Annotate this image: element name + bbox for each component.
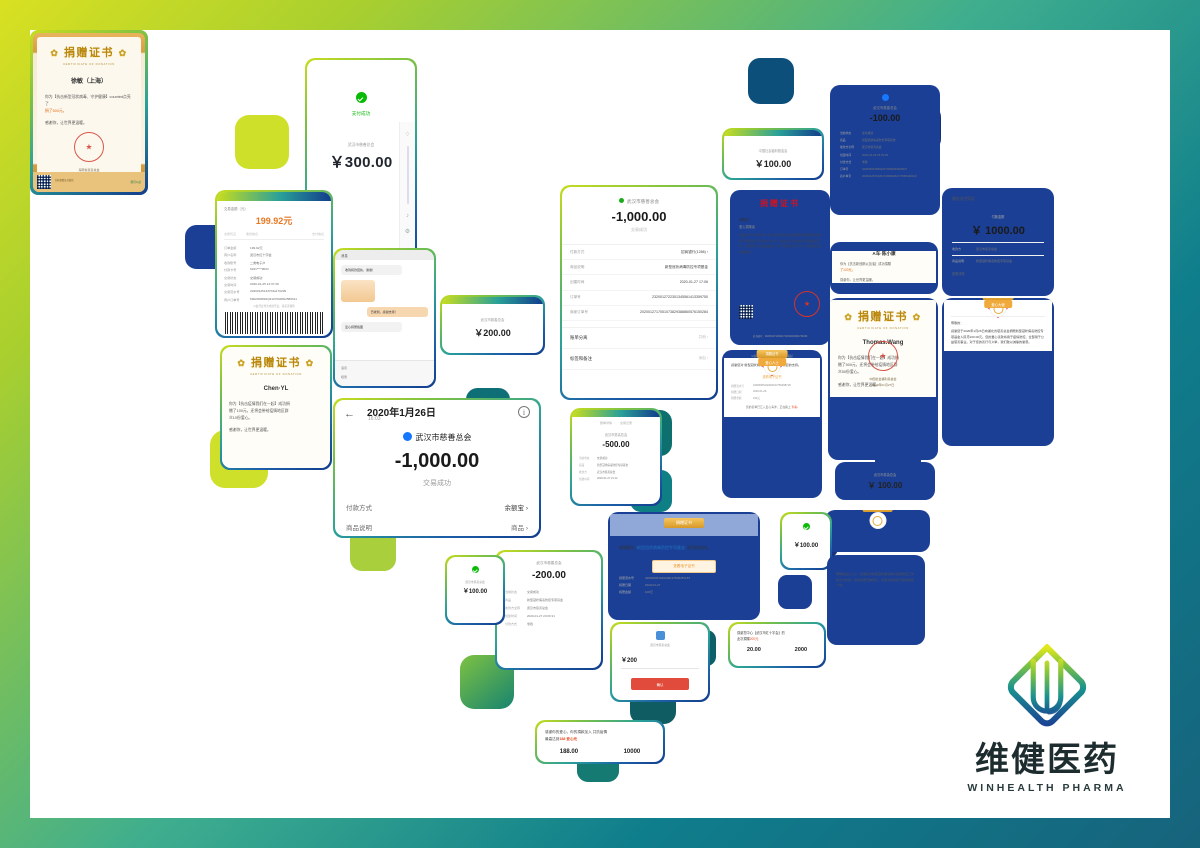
- transaction-detail-500-card[interactable]: 账单详情 交易记录 武汉市慈善总会 -500.00 当前状态交易成功 商品新型冠…: [570, 408, 662, 506]
- payee-name: 武汉市慈善总会: [572, 432, 660, 437]
- qr-code-icon[interactable]: [739, 305, 753, 319]
- table-row: 订单号42000601000620073600000360027: [840, 167, 930, 171]
- avatar-icon: [656, 631, 665, 640]
- table-row: 交易状态交易成功: [224, 275, 324, 280]
- barcode-note: 以此凭证作为交易凭证，请妥善保管: [217, 304, 331, 308]
- donor-name: Chen·YL: [229, 386, 323, 392]
- status-label: 交易成功: [562, 227, 716, 233]
- payee-name: 武汉市慈善总会: [562, 198, 716, 205]
- transaction-detail-200-card[interactable]: 武汉市慈善总会 -200.00 当前状态交易成功 商品新型冠状病毒防控专项基金 …: [495, 550, 603, 670]
- certificate-title: 捐赠证书: [732, 198, 828, 209]
- table-row: 订单金额199.92元: [224, 245, 324, 250]
- badge-label: 爱心人士: [758, 358, 786, 366]
- tab-item[interactable]: 收款信息: [246, 232, 258, 236]
- official-seal-icon: ★: [868, 341, 898, 371]
- amount-value: ￥ 100.00: [837, 480, 933, 491]
- note-body: 尊敬的爱心人士：感谢您对新型冠状病毒肺炎疫情防控工作的大力支持，您的捐赠已被登记…: [836, 572, 916, 589]
- wechat-bill-detail-card[interactable]: 武汉市慈善总会 -1,000.00 交易成功 付款方式招商银行(1286) › …: [560, 185, 718, 400]
- amount-value: ￥100.00: [447, 586, 503, 595]
- decor-blob: [778, 575, 812, 609]
- laurel-icon: ✿: [119, 48, 128, 58]
- donor-name: 徐敏（上海）: [45, 76, 133, 85]
- bell-icon[interactable]: ♢: [400, 131, 415, 138]
- thanks-text: 感谢您中心【武汉市红十字会】的 此次捐赠200元: [737, 630, 817, 642]
- badge-label: 爱心大使: [984, 300, 1012, 308]
- love-person-certificate-card[interactable]: 公益项目由基金会、慈善组织等发起 爱心人士 捐赠证书 感谢您对“新型冠状病毒防控…: [722, 350, 822, 498]
- tab-item[interactable]: 账单详情: [600, 421, 612, 425]
- card-accent-bar: [572, 410, 660, 417]
- donor-name: 爱心捐赠者: [739, 224, 821, 229]
- table-row: 交易时间2020-01-25 13:37:39: [224, 282, 324, 287]
- thanks-wuhan-card[interactable]: 感谢您中心【武汉市红十字会】的 此次捐赠200元 20.00 2000: [728, 622, 826, 668]
- table-row: 捐赠流水号42000605102020012750938718: [731, 384, 813, 388]
- certificate-title: ✿ 捐赠证书 ✿: [838, 308, 928, 324]
- amount-value: 199.92元: [217, 214, 331, 227]
- alipay-transaction-detail-card[interactable]: ← 2020年1月26日 16:03 i 武汉市慈善总会 -1,000.00 交…: [333, 398, 541, 538]
- certificate-number: 证书编号：20200127120021710314020401720449: [730, 334, 830, 338]
- thanks-188-card[interactable]: 感谢你的爱心，你的捐款加入 共抗疫情 最高达到188 爱心元 188.00 10…: [535, 720, 665, 764]
- donation-badge-card[interactable]: 捐赠证书: [825, 510, 930, 552]
- payment-status-label: 支付成功: [307, 111, 415, 117]
- table-row: 收款方全称武汉市慈善总会: [840, 145, 930, 149]
- chat-screenshot-card[interactable]: 消息 收到捐款回执，谢谢！ 已收到，感谢支持！ 爱心捐赠截图 语音 相册: [333, 248, 436, 388]
- medal-icon: [869, 512, 886, 529]
- action-row[interactable]: 标签和备注添加 ›: [562, 349, 716, 370]
- chat-bubble: 已收到，感谢支持！: [367, 307, 428, 317]
- table-row: 商品新型冠状病毒防控专项基金: [840, 138, 930, 142]
- amount-values: 188.00 10000: [537, 749, 663, 755]
- table-row: 收款方武汉市慈善总会: [579, 470, 653, 474]
- table-row: 捐赠金额100元: [619, 590, 749, 594]
- bill-actions[interactable]: 账单分离共他 › 标签和备注添加 ›: [562, 327, 716, 370]
- donor-name: A车·陈小康: [832, 251, 936, 257]
- official-seal-icon: ★: [794, 291, 820, 317]
- card-accent-bar: [724, 130, 822, 136]
- card-accent-bar: [217, 192, 331, 201]
- decor-blob: [235, 115, 289, 169]
- official-seal-icon: ★: [74, 132, 104, 162]
- decor-blob: [748, 58, 794, 104]
- amount-value: -200.00: [497, 570, 601, 581]
- music-icon[interactable]: ♪: [400, 213, 415, 219]
- chat-image-bubble[interactable]: [341, 280, 375, 302]
- amount-value: -500.00: [572, 440, 660, 449]
- payee-name: 武汉市慈善总会: [442, 317, 543, 322]
- table-row: 当前状态交易成功: [840, 131, 930, 135]
- table-row: 商户名称武汉市红十字会: [224, 252, 324, 257]
- chat-footer[interactable]: 语音 相册: [335, 360, 434, 386]
- amount-value: -1,000.00: [562, 209, 716, 224]
- table-row: 付款方式零钱: [505, 622, 593, 626]
- certificate-body: 感谢您于2020年1月27日向武汉市慈善总会捐赠新型冠状病毒防控专项基金人民币1…: [739, 233, 821, 255]
- certificate-subtitle: CERTIFICATE OF DONATION: [838, 326, 928, 330]
- salutation: 尊敬的：: [951, 321, 1045, 327]
- table-row: 订单号2320012722301345561413359750: [562, 291, 716, 306]
- alipay-icon: [403, 432, 412, 441]
- view-certificate-button[interactable]: 查看电子证书: [652, 560, 716, 573]
- table-row: 创建时间2020-01-27 21:12: [579, 477, 653, 481]
- medal-label: 捐赠证书: [862, 510, 893, 512]
- ribbon-banner: 捐赠证书: [610, 514, 758, 536]
- table-row: 商户订单号6902000894Q6107000002586611: [224, 297, 324, 302]
- laurel-icon: ✿: [50, 48, 59, 58]
- blue-thanks-note-card[interactable]: 尊敬的爱心人士：感谢您对新型冠状病毒肺炎疫情防控工作的大力支持，您的捐赠已被登记…: [827, 555, 925, 645]
- issue-date: 2020年01月27日: [830, 383, 936, 387]
- brand-name-en: WINHEALTH PHARMA: [962, 782, 1132, 794]
- long-body-text: 感谢您于2020年1月26日向湖北省慈善总会捐赠新型冠状病毒防控专项基金人民币1…: [951, 329, 1045, 346]
- laurel-icon: ✿: [237, 358, 246, 368]
- certificate-subtitle: CERTIFICATE OF DONATION: [45, 62, 133, 66]
- amount-value: 2000: [795, 647, 807, 653]
- certificate-body: 你为【抗击新冠肺炎加油】成功捐赠 了100元。 感谢你，让世界更温暖。: [840, 262, 928, 283]
- table-row: 交易流水号20200125133703a170209: [224, 289, 324, 294]
- certificate-title: ✿ 捐赠证书 ✿: [229, 354, 323, 370]
- voucher-title: 微信支付凭证: [952, 197, 1052, 202]
- footer-label[interactable]: 语音: [341, 366, 428, 370]
- certificate-body: 你为【抗击疫情我们在一起】成功捐 赠了100元，还将会带给疫情地区群 众10份爱…: [229, 401, 323, 434]
- info-icon[interactable]: i: [518, 406, 530, 418]
- amount-value: 10000: [624, 749, 641, 755]
- winhealth-diamond-logo-icon: [1004, 644, 1090, 730]
- thanks-text: 感谢你的爱心，你的捐款加入 共抗疫情 最高达到188 爱心元: [545, 729, 655, 743]
- receipt-tabs[interactable]: 交易凭证 收款信息 支付信息: [224, 232, 324, 240]
- table-row: 商品说明新型冠状病毒防控专项基金: [952, 255, 1044, 264]
- certificate-body: 你为【抗击新型冠状病毒、守护健康】counted点亮了 捐了500元。 感谢你，…: [45, 94, 133, 127]
- footer-note: 扫码查看证书真伪: [55, 180, 73, 184]
- status-bar: [307, 60, 415, 78]
- table-row: 创建时间2020-01-27 17:06: [562, 275, 716, 290]
- amount-label: 交易金额（元）: [224, 206, 331, 211]
- tab-item[interactable]: 交易凭证: [224, 232, 236, 236]
- table-row[interactable]: 商品说明 商品 ›: [346, 522, 528, 532]
- confirm-button[interactable]: 确认: [631, 678, 689, 690]
- nav-bar[interactable]: ← 2020年1月26日 16:03 i: [335, 400, 539, 426]
- amount-value: ￥ 1000.00: [944, 222, 1052, 238]
- china-welfare-fund-card[interactable]: 中国社会福利基金会 ￥100.00: [722, 128, 824, 180]
- chat-header: 消息: [335, 250, 434, 260]
- amount-value: 20.00: [747, 647, 761, 653]
- chen-yl-certificate-card[interactable]: ✿ 捐赠证书 ✿ CERTIFICATE OF DONATION Chen·YL…: [220, 345, 332, 470]
- table-row: 捐赠日期2020-01-26: [731, 390, 813, 394]
- table-row: 捐赠金额100元: [731, 396, 813, 400]
- poster-background: 支付成功 武汉市慈善总会 ￥300.00 ♢ ♪ ⚙ ✿ 捐赠证书: [0, 0, 1200, 848]
- payee-name: 武汉市慈善总会: [837, 472, 933, 477]
- table-row: 付款卡号6221****9634: [224, 267, 324, 272]
- bill-rows: 付款方式招商银行(1286) › 商品说明新型冠状病毒防控专项基金 创建时间20…: [562, 244, 716, 321]
- transaction-time: 16:03: [368, 416, 381, 422]
- chat-bubble: 爱心捐赠截图: [341, 322, 402, 332]
- red-donation-certificate-card[interactable]: 捐赠证书 尊敬的： 爱心捐赠者 感谢您于2020年1月27日向武汉市慈善总会捐赠…: [730, 190, 830, 345]
- volume-slider[interactable]: [407, 146, 409, 204]
- brand-logo: 维健医药 WINHEALTH PHARMA: [962, 644, 1132, 794]
- ribbon-certificate-card[interactable]: 捐赠证书 感谢您对“新型冠状病毒防控专项基金”项目的支持。 查看电子证书 捐赠流…: [608, 512, 760, 620]
- wechat-payment-voucher-card[interactable]: 微信支付凭证 付款金额 ￥ 1000.00 收款方武汉市慈善总会 商品说明新型冠…: [942, 188, 1054, 296]
- table-row: 收款账号二类电子户: [224, 260, 324, 265]
- card-accent-bar: [442, 297, 543, 304]
- table-row: 商品新型冠状病毒防控专项基金: [505, 598, 593, 602]
- footer-label[interactable]: 相册: [341, 375, 428, 379]
- table-row: 捐赠流水号42000605102020012750938718T: [619, 576, 749, 580]
- payee-name: 武汉市慈善总会: [497, 561, 601, 566]
- detail-rows: 当前状态交易成功 商品新型冠状病毒防控专项基金 收款方全称武汉市慈善总会 创建时…: [832, 131, 938, 178]
- wuhan-charity-100-card[interactable]: 武汉市慈善总会 ￥ 100.00: [835, 462, 935, 500]
- amount-label: 付款金额: [944, 214, 1052, 219]
- amount-value: 188.00: [560, 749, 578, 755]
- wechat-pay-100-card[interactable]: 武汉市慈善总会 ￥100.00: [445, 555, 505, 625]
- status-label: 交易成功: [335, 478, 539, 488]
- certificate-title: ✿ 捐赠证书 ✿: [45, 44, 133, 60]
- payee-name: 武汉市慈善总会: [335, 432, 539, 443]
- footer-text: 您的善举已汇入爱心海洋，正在路上 查看›: [731, 402, 813, 412]
- tab-item[interactable]: 交易记录: [620, 421, 632, 425]
- table-row: 商户单号20200126716201720600462177086420010: [840, 174, 930, 178]
- barcode-icon: [225, 312, 323, 334]
- table-row: 商品说明新型冠状病毒防控专项基金: [562, 260, 716, 275]
- gear-icon[interactable]: ⚙: [400, 228, 415, 235]
- amount-value: ￥200.00: [442, 326, 543, 339]
- ribbon-label: 捐赠证书: [664, 518, 704, 528]
- amount-values: 20.00 2000: [730, 647, 824, 653]
- thomas-wang-certificate-card[interactable]: ✿ 捐赠证书 ✿ CERTIFICATE OF DONATION Thomas.…: [828, 298, 938, 460]
- transfer-input-card[interactable]: 武汉市慈善总会 ￥200 确认: [610, 622, 710, 702]
- payment-status: 支付成功: [307, 78, 415, 117]
- recipient-name: 武汉市慈善总会: [612, 643, 708, 647]
- check-circle-icon: [356, 92, 367, 103]
- payee-name: 武汉市慈善总会: [832, 105, 938, 110]
- table-row: 当前状态交易成功: [579, 456, 653, 460]
- table-row: 创建时间2020-01-27 20:06:31: [505, 614, 593, 618]
- certificate-footer: 扫码查看证书真伪 腾讯公益: [33, 172, 145, 192]
- table-row: 捐赠日期2020-01-27: [619, 583, 749, 587]
- table-row: 创建时间2020-01-26 15:43:39: [840, 153, 930, 157]
- laurel-icon: ✿: [844, 312, 853, 322]
- medal-label: 捐赠证书: [757, 350, 788, 358]
- issuing-org: 中国社会福利基金会: [830, 377, 936, 381]
- certificate-subtitle: CERTIFICATE OF DONATION: [229, 372, 323, 376]
- receipt-rows: 订单金额199.92元 商户名称武汉市红十字会 收款账号二类电子户 付款卡号62…: [217, 245, 331, 302]
- table-row: 商品新型冠状病毒防控专项基金: [579, 463, 653, 467]
- wechat-pay-100-small-card[interactable]: ￥100.00: [780, 512, 832, 570]
- laurel-icon: ✿: [306, 358, 315, 368]
- check-circle-icon: [472, 566, 479, 573]
- table-row[interactable]: 付款方式 余额宝 ›: [346, 502, 528, 512]
- payee-name: 中国社会福利基金会: [724, 148, 822, 153]
- card-accent-bar: [829, 557, 923, 566]
- table-row: 付款方式零钱: [840, 160, 930, 164]
- amount-input[interactable]: ￥200: [621, 655, 699, 669]
- detail-rows: 当前状态交易成功 商品新型冠状病毒防控专项基金 收款方全称武汉市慈善总会 创建时…: [497, 590, 601, 626]
- laurel-icon: ✿: [913, 312, 922, 322]
- footer-brand: 腾讯公益: [131, 180, 141, 184]
- tab-item[interactable]: 支付信息: [312, 232, 324, 236]
- wechat-pay-200-card[interactable]: 武汉市慈善总会 ￥200.00: [440, 295, 545, 355]
- transaction-detail-100-card[interactable]: 武汉市慈善总会 -100.00 当前状态交易成功 商品新型冠状病毒防控专项基金 …: [830, 85, 940, 215]
- detail-tabs[interactable]: 账单详情 交易记录: [572, 421, 660, 425]
- table-row: 收款方全称武汉市慈善总会: [505, 606, 593, 610]
- alipay-icon: [882, 94, 889, 101]
- amount-value: -1,000.00: [335, 450, 539, 473]
- salutation: 尊敬的：: [739, 217, 821, 222]
- poster-canvas: 支付成功 武汉市慈善总会 ￥300.00 ♢ ♪ ⚙ ✿ 捐赠证书: [30, 30, 1170, 818]
- bank-receipt-card[interactable]: 交易金额（元） 199.92元 交易凭证 收款信息 支付信息 订单金额199.9…: [215, 190, 333, 338]
- amount-value: ￥100.00: [782, 540, 830, 549]
- certificate-body: 感谢您对“新型冠状病毒防控专项基金”项目的支持。: [619, 544, 749, 552]
- mini-certificate-card[interactable]: A车·陈小康 你为【抗击新冠肺炎加油】成功捐赠 了100元。 感谢你，让世界更温…: [830, 242, 938, 294]
- amount-value: ￥100.00: [724, 157, 822, 170]
- table-row: 商家订单号2020012717051073829388860576150284: [562, 306, 716, 321]
- qr-code-icon[interactable]: [37, 175, 51, 189]
- love-ambassador-certificate-card[interactable]: 爱心大使 捐赠证书 感谢您的爱心。 尊敬的： 感谢您于2020年1月26日向湖北…: [942, 298, 1054, 446]
- chat-bubble: 收到捐款回执，谢谢！: [341, 265, 402, 275]
- check-circle-icon: [803, 523, 810, 530]
- table-row: 当前状态交易成功: [505, 590, 593, 594]
- table-row: 收款方武汉市慈善总会: [952, 242, 1044, 251]
- payee-name: 武汉市慈善总会: [447, 580, 503, 584]
- wechat-pay-icon: [619, 198, 624, 203]
- amount-value: -100.00: [832, 113, 938, 123]
- action-row[interactable]: 账单分离共他 ›: [562, 328, 716, 349]
- brand-name-cn: 维健医药: [962, 732, 1132, 781]
- footer-link[interactable]: 查看›: [792, 405, 799, 409]
- view-details-link[interactable]: 查看详情: [952, 271, 1052, 276]
- table-row: 付款方式招商银行(1286) ›: [562, 245, 716, 260]
- arrow-left-icon[interactable]: ←: [344, 408, 355, 420]
- donation-certificate-card[interactable]: ✿ 捐赠证书 ✿ CERTIFICATE OF DONATION 徐敏（上海） …: [30, 30, 148, 195]
